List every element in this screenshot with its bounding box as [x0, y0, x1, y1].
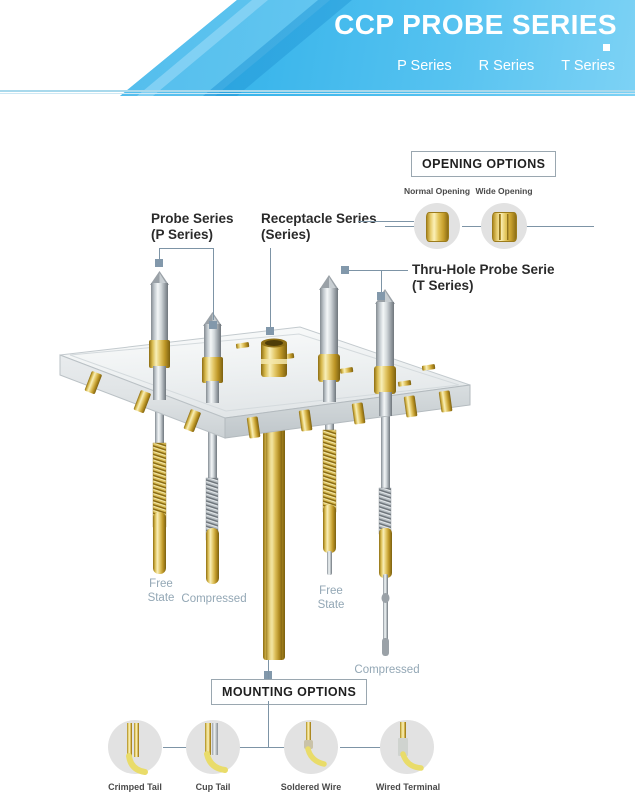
- probe-t-compressed-upper: [374, 289, 396, 416]
- state-label-t-free-line2: State: [305, 599, 357, 613]
- callout-probe-series-line1: Probe Series: [151, 211, 234, 227]
- opening-options-rail-right: [524, 226, 594, 227]
- state-label-t-compressed-line1: Compressed: [352, 664, 422, 678]
- wide-opening-cylinder-icon: [492, 212, 517, 242]
- header-divider: [0, 90, 635, 92]
- probe-p-free-upper: [149, 271, 170, 400]
- header-divider-soft: [0, 93, 635, 94]
- probe-t-compressed: [379, 412, 392, 656]
- mounting-label-soldered-wire: Soldered Wire: [273, 781, 349, 795]
- tab-r-series[interactable]: R Series: [479, 58, 535, 74]
- leader-thru-hole-horiz: [346, 270, 408, 271]
- page-title: CCP PROBE SERIES: [334, 8, 617, 42]
- callout-probe-series-line2: (P Series): [151, 227, 234, 243]
- opening-options-rail-mid: [462, 226, 483, 227]
- callout-receptacle-series: Receptacle Series (Series): [261, 211, 377, 243]
- leader-mounting-vert-bottom: [268, 701, 269, 747]
- wide-opening-slot-2: [507, 214, 509, 240]
- leader-marker-p-compressed: [209, 321, 217, 329]
- probe-p-compressed: [206, 398, 219, 584]
- page-header: CCP PROBE SERIES P Series R Series T Ser…: [0, 0, 635, 96]
- wide-opening-slot: [499, 214, 501, 240]
- square-marker-icon: [603, 44, 610, 51]
- mounting-rail-2: [237, 747, 269, 748]
- opening-options-box: OPENING OPTIONS: [411, 151, 556, 177]
- mounting-rail-1: [163, 747, 207, 748]
- leader-marker-t-compressed: [377, 292, 385, 300]
- leader-receptacle-vert: [270, 248, 271, 328]
- leader-marker-receptacle: [266, 327, 274, 335]
- mounting-rail-3: [268, 747, 310, 748]
- state-label-p-free-line1: Free: [135, 578, 187, 592]
- mounting-rail-4: [340, 747, 384, 748]
- state-label-p-compressed: Compressed: [180, 593, 248, 607]
- test-fixture-plate: [60, 327, 470, 439]
- tab-t-series[interactable]: T Series: [561, 58, 615, 74]
- leader-marker-t-free: [341, 266, 349, 274]
- wide-opening-label: Wide Opening: [464, 185, 544, 199]
- callout-thru-hole-series: Thru-Hole Probe Serie (T Series): [412, 262, 555, 294]
- probe-t-free-upper: [318, 275, 340, 402]
- state-label-t-free-line1: Free: [305, 585, 357, 599]
- leader-thru-hole-vert: [381, 270, 382, 294]
- callout-thru-hole-line2: (T Series): [412, 278, 555, 294]
- normal-opening-cylinder-icon: [426, 212, 449, 242]
- callout-receptacle-series-line2: (Series): [261, 227, 377, 243]
- mounting-label-cup-tail: Cup Tail: [180, 781, 246, 795]
- leader-receptacle-to-openings: [358, 221, 414, 222]
- mounting-option-crimped-tail: [108, 720, 162, 774]
- receptacle-series-body: [263, 368, 285, 660]
- leader-mounting-vert-top: [268, 660, 269, 679]
- receptacle-series-mouth: [261, 339, 287, 378]
- state-label-p-compressed-line1: Compressed: [180, 593, 248, 607]
- callout-probe-series: Probe Series (P Series): [151, 211, 234, 243]
- mounting-option-wired-terminal: [380, 720, 434, 774]
- callout-thru-hole-line1: Thru-Hole Probe Serie: [412, 262, 555, 278]
- probe-t-free-state: [323, 398, 336, 575]
- mounting-label-wired-terminal: Wired Terminal: [368, 781, 448, 795]
- state-label-t-compressed: Compressed: [352, 664, 422, 678]
- tab-p-series[interactable]: P Series: [397, 58, 452, 74]
- state-label-t-free: Free State: [305, 585, 357, 612]
- leader-probe-series-vert-right: [213, 248, 214, 320]
- leader-probe-series-horiz: [159, 248, 213, 249]
- series-tabs: P Series R Series T Series: [397, 58, 615, 74]
- probe-p-free-state: [153, 398, 166, 574]
- mounting-label-crimped-tail: Crimped Tail: [100, 781, 170, 795]
- callout-receptacle-series-line1: Receptacle Series: [261, 211, 377, 227]
- mounting-options-box: MOUNTING OPTIONS: [211, 679, 367, 705]
- leader-marker-p-free: [155, 259, 163, 267]
